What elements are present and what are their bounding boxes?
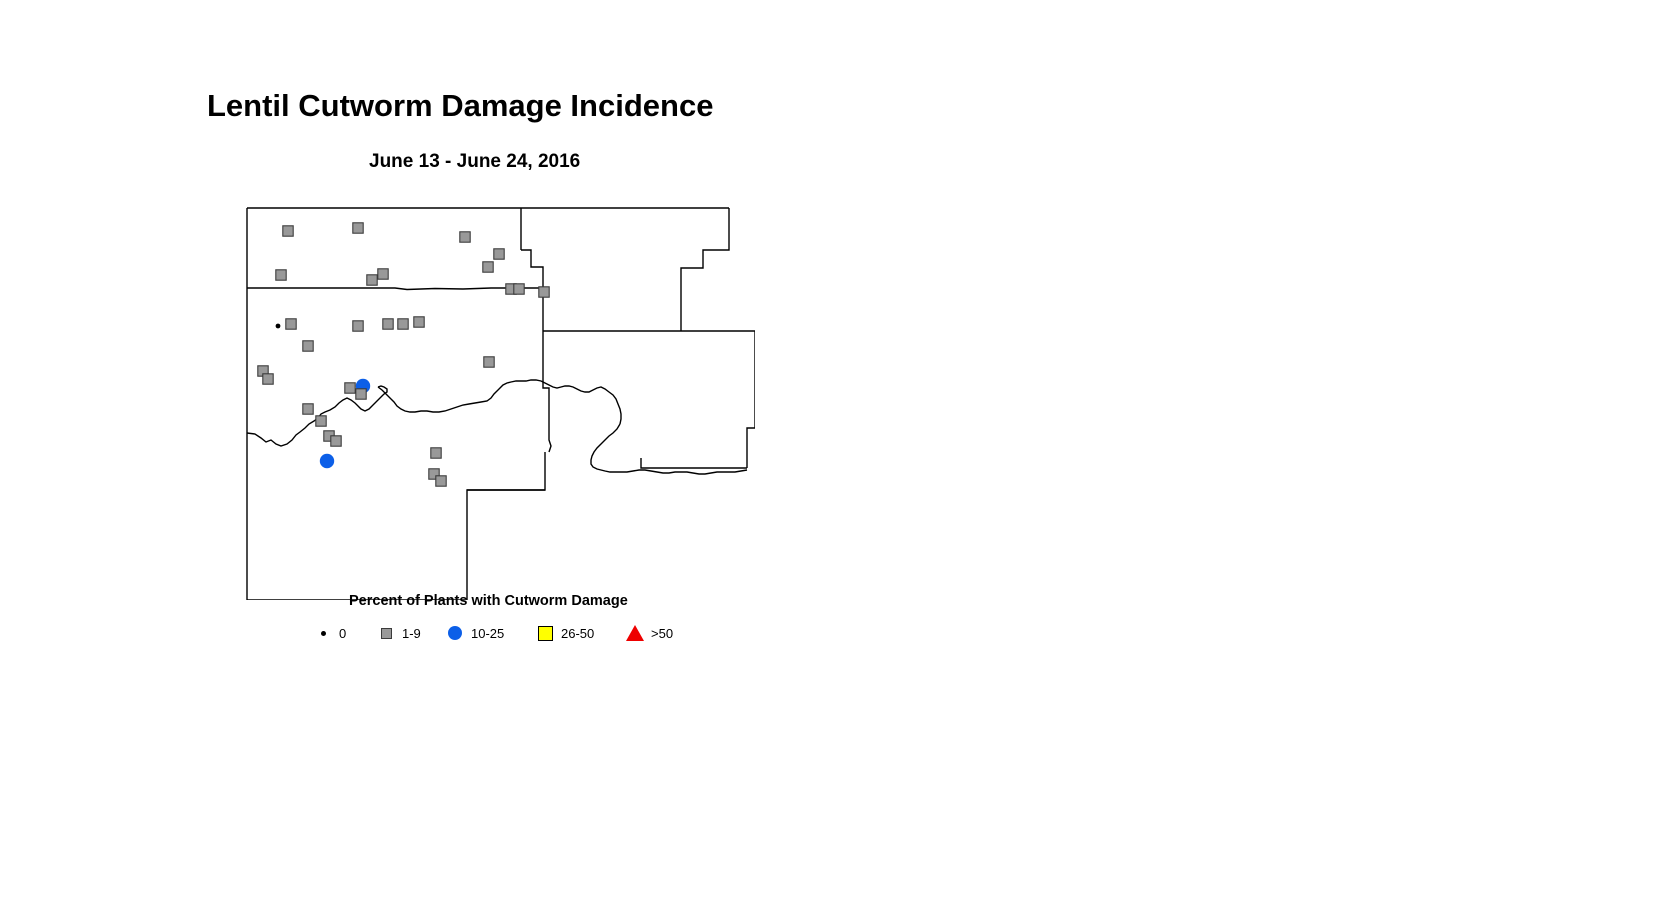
region-map — [235, 200, 755, 600]
marker-1-9 — [303, 404, 313, 414]
marker-1-9 — [484, 357, 494, 367]
map-boundaries — [247, 208, 755, 600]
river-boundary-east — [591, 424, 747, 474]
marker-1-9 — [460, 232, 470, 242]
marker-1-9 — [331, 436, 341, 446]
blue-circle-icon — [444, 622, 466, 644]
marker-zero — [276, 324, 281, 329]
legend-label-0: 0 — [339, 626, 346, 641]
marker-1-9 — [283, 226, 293, 236]
se-wing-stem — [549, 413, 551, 452]
gray-square-icon — [375, 622, 397, 644]
se-lower-step — [641, 458, 747, 468]
marker-1-9 — [436, 476, 446, 486]
legend-label-3: 26-50 — [561, 626, 594, 641]
river-boundary-mid — [378, 380, 621, 424]
zero-dot-icon — [312, 622, 334, 644]
nw-block-south-line — [247, 288, 543, 290]
data-markers — [258, 223, 549, 486]
marker-1-9 — [353, 223, 363, 233]
marker-1-9 — [303, 341, 313, 351]
marker-1-9 — [398, 319, 408, 329]
legend-item-3[interactable]: 26-50 — [534, 620, 594, 646]
legend-label-2: 10-25 — [471, 626, 504, 641]
red-triangle-icon — [624, 622, 646, 644]
figure-root: Lentil Cutworm Damage Incidence June 13 … — [0, 0, 1673, 900]
legend: 0 1-9 10-25 26-50 >50 — [312, 620, 732, 646]
legend-label-4: >50 — [651, 626, 673, 641]
page-title: Lentil Cutworm Damage Incidence — [207, 88, 713, 124]
legend-title: Percent of Plants with Cutworm Damage — [349, 593, 628, 609]
marker-1-9 — [414, 317, 424, 327]
legend-item-2[interactable]: 10-25 — [444, 620, 504, 646]
marker-1-9 — [367, 275, 377, 285]
eastern-outer-south — [747, 331, 755, 468]
marker-1-9 — [345, 383, 355, 393]
lower-middle-south — [467, 452, 545, 490]
legend-item-0[interactable]: 0 — [312, 620, 346, 646]
page-subtitle: June 13 - June 24, 2016 — [369, 151, 580, 173]
marker-1-9 — [263, 374, 273, 384]
marker-1-9 — [431, 448, 441, 458]
marker-1-9 — [316, 416, 326, 426]
legend-item-4[interactable]: >50 — [624, 620, 673, 646]
marker-1-9 — [514, 284, 524, 294]
marker-10-25 — [320, 454, 334, 468]
se-wing-west-edge — [543, 331, 549, 413]
marker-1-9 — [539, 287, 549, 297]
marker-1-9 — [353, 321, 363, 331]
yellow-square-icon — [534, 622, 556, 644]
marker-1-9 — [494, 249, 504, 259]
north-central-step — [521, 250, 543, 288]
marker-1-9 — [483, 262, 493, 272]
marker-1-9 — [276, 270, 286, 280]
map-container — [235, 200, 755, 600]
marker-1-9 — [286, 319, 296, 329]
legend-item-1[interactable]: 1-9 — [375, 620, 421, 646]
marker-1-9 — [378, 269, 388, 279]
marker-1-9 — [356, 389, 366, 399]
eastern-stepped-border — [681, 208, 729, 331]
legend-label-1: 1-9 — [402, 626, 421, 641]
marker-1-9 — [383, 319, 393, 329]
